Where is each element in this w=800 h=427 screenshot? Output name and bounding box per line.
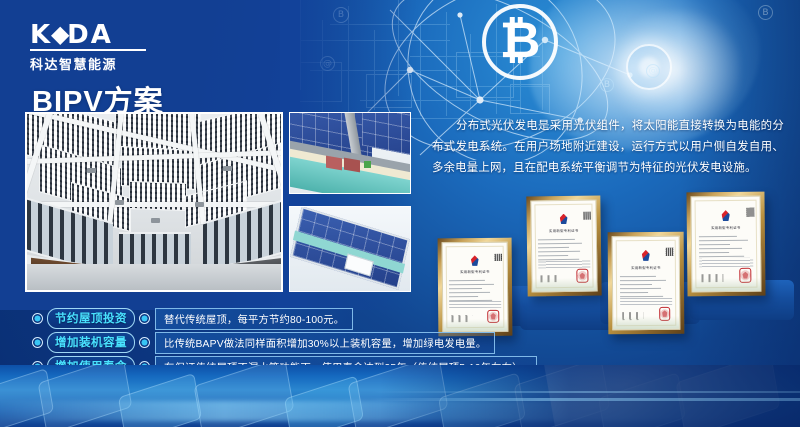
certificate-qr-icon	[583, 211, 590, 219]
intro-paragraph: 分布式光伏发电是采用光伏组件，将太阳能直接转换为电能的分布式发电系统。在用户场地…	[432, 116, 784, 179]
certificate-emblem-icon	[471, 255, 479, 266]
certificate-qr-icon	[747, 208, 755, 217]
certificate-card: 实用新型专利证书	[686, 192, 765, 297]
band-stripe	[370, 391, 800, 393]
feature-tag: 增加装机容量	[47, 332, 135, 353]
badge-at2-icon: @	[646, 64, 660, 78]
band-stripe	[370, 398, 800, 401]
certificate-title: 实用新型专利证书	[443, 269, 507, 275]
certificate-title: 实用新型专利证书	[692, 225, 760, 231]
atrium-photo	[25, 112, 283, 292]
feature-tag: 节约屋顶投资	[47, 308, 135, 329]
certificate-card: 实用新型专利证书	[526, 195, 601, 296]
bullet-dot-icon	[32, 313, 43, 324]
band-right-shade	[380, 365, 800, 427]
certificate-title: 实用新型专利证书	[532, 228, 596, 234]
mounting-detail-render	[289, 112, 411, 194]
certificate-emblem-icon	[560, 214, 568, 225]
feature-description: 比传统BAPV做法同样面积增加30%以上装机容量，增加绿电发电量。	[155, 332, 495, 354]
bullet-dot-icon	[139, 313, 150, 324]
certificate-qr-icon	[666, 248, 673, 256]
certificate-emblem-icon	[722, 210, 730, 221]
brand-logo: KDA 科达智慧能源	[30, 22, 146, 73]
certificate-title: 实用新型专利证书	[613, 264, 679, 269]
feature-row: 增加装机容量 比传统BAPV做法同样面积增加30%以上装机容量，增加绿电发电量。	[32, 332, 537, 353]
bitcoin-icon: ₿	[482, 4, 558, 80]
brand-logo-cn: 科达智慧能源	[30, 54, 146, 73]
brand-logo-en: KDA	[30, 22, 146, 48]
certificate-qr-icon	[495, 253, 502, 261]
poster-canvas: ₿ B @ B B @ KDA 科达智慧能源 BIPV方案 分布式光伏发电是采用…	[0, 0, 800, 427]
bullet-dot-icon	[32, 337, 43, 348]
feature-description: 替代传统屋顶，每平方节约80-100元。	[155, 308, 353, 330]
bullet-dot-icon	[139, 337, 150, 348]
panel-array-render	[289, 206, 411, 292]
badge-b3-icon: B	[758, 5, 773, 20]
certificate-card: 实用新型专利证书	[608, 232, 685, 335]
logo-diamond-icon	[51, 27, 69, 45]
certificate-emblem-icon	[642, 250, 650, 261]
feature-row: 节约屋顶投资 替代传统屋顶，每平方节约80-100元。	[32, 308, 537, 329]
badge-b2-icon: B	[600, 78, 614, 92]
